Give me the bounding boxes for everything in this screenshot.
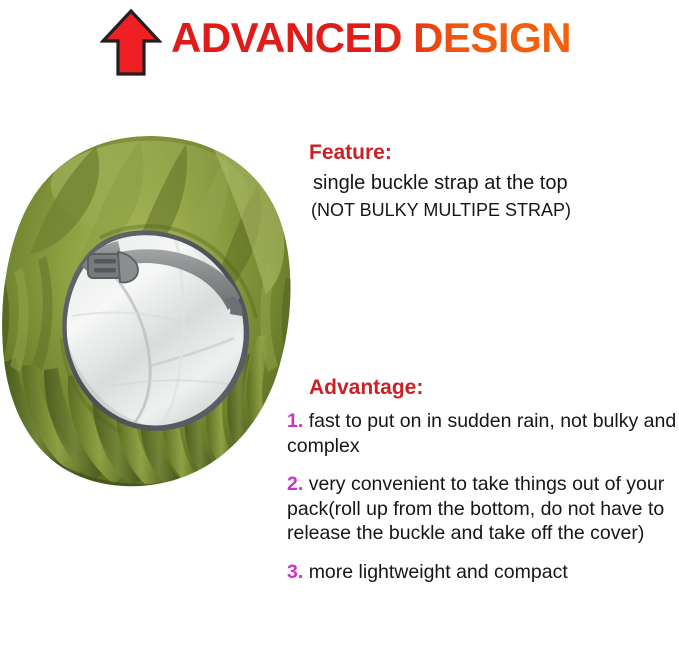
advantage-item-text: more lightweight and compact [309, 561, 568, 583]
advantage-item-text: very convenient to take things out of yo… [287, 473, 664, 544]
advantage-list-item: 3. more lightweight and compact [287, 560, 679, 585]
arrow-up-icon [100, 8, 162, 78]
advantage-item-number: 3. [287, 561, 303, 583]
feature-heading: Feature: [309, 140, 674, 166]
feature-description: single buckle strap at the top [313, 170, 674, 196]
advantage-list-item: 1. fast to put on in sudden rain, not bu… [287, 409, 679, 458]
page-title: ADVANCED DESIGN [171, 14, 571, 62]
advantage-list-item: 2. very convenient to take things out of… [287, 472, 679, 546]
advantage-section: Advantage: 1. fast to put on in sudden r… [309, 375, 679, 584]
feature-section: Feature: single buckle strap at the top … [309, 140, 674, 222]
header-banner: ADVANCED DESIGN [0, 0, 679, 95]
product-image-rain-cover [0, 128, 300, 498]
advantage-item-number: 2. [287, 473, 303, 495]
advantage-item-number: 1. [287, 410, 303, 432]
advantage-heading: Advantage: [309, 375, 679, 401]
advantage-item-text: fast to put on in sudden rain, not bulky… [287, 410, 676, 457]
feature-note: (NOT BULKY MULTIPE STRAP) [311, 198, 674, 222]
